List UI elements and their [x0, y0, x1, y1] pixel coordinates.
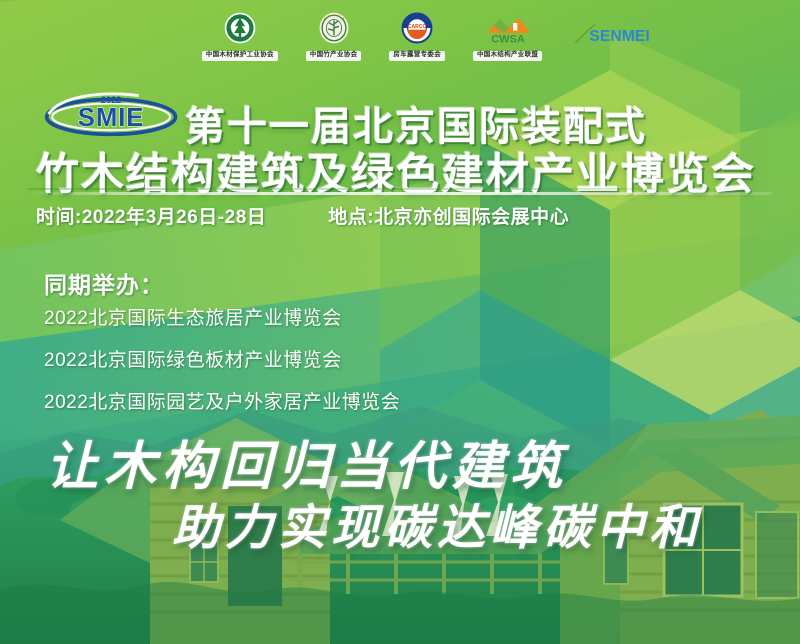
senmei-leaf-icon: SENMEI — [570, 19, 658, 54]
slogan-line-2: 助力实现碳达峰碳中和 — [172, 488, 702, 558]
list-item: 2022北京国际绿色板材产业博览会 — [44, 345, 400, 372]
isometric-cube-decoration — [380, 30, 800, 450]
event-venue: 地点:北京亦创国际会展中心 — [328, 202, 569, 229]
logo-china-wood-protection[interactable]: 中国木材保护工业协会 — [202, 11, 278, 60]
logo-caption: 中国竹产业协会 — [306, 51, 362, 60]
bamboo-seal-icon — [317, 11, 351, 50]
logo-caption: 中国木结构产业联盟 — [473, 51, 542, 60]
event-meta: 时间:2022年3月26日-28日 地点:北京亦创国际会展中心 — [36, 202, 796, 229]
logo-caption: 中国木材保护工业协会 — [202, 51, 278, 60]
organizer-logo-bar: 中国木材保护工业协会 中国竹产业协会 — [0, 0, 800, 72]
title-divider-shadow — [28, 188, 772, 190]
logo-cwsa[interactable]: CWSA 中国木结构产业联盟 — [473, 11, 542, 60]
concurrent-events-list: 2022北京国际生态旅居产业博览会 2022北京国际绿色板材产业博览会 2022… — [44, 303, 400, 429]
smie-wordmark: SMIE — [78, 104, 145, 132]
list-item: 2022北京国际园艺及户外家居产业博览会 — [44, 387, 400, 414]
smie-brand-logo[interactable]: 2022 SMIE — [42, 92, 182, 138]
svg-text:CARCC: CARCC — [408, 24, 427, 30]
carcc-roundel-icon: CARCC — [400, 11, 434, 50]
title-divider — [28, 192, 772, 195]
logo-carcc[interactable]: CARCC 房车露营专委会 — [389, 11, 445, 60]
logo-bamboo-association[interactable]: 中国竹产业协会 — [306, 11, 362, 60]
house-cwsa-icon: CWSA — [486, 11, 530, 50]
senmei-wordmark: SENMEI — [590, 28, 650, 45]
pine-tree-emblem-icon — [223, 11, 257, 50]
list-item: 2022北京国际生态旅居产业博览会 — [44, 303, 400, 330]
logo-caption: 房车露营专委会 — [389, 51, 445, 60]
concurrent-heading: 同期举办： — [44, 266, 164, 300]
exhibition-poster: 中国木材保护工业协会 中国竹产业协会 — [0, 0, 800, 644]
event-date: 时间:2022年3月26日-28日 — [36, 202, 266, 229]
svg-text:CWSA: CWSA — [491, 34, 525, 46]
logo-senmei[interactable]: SENMEI — [570, 19, 658, 54]
